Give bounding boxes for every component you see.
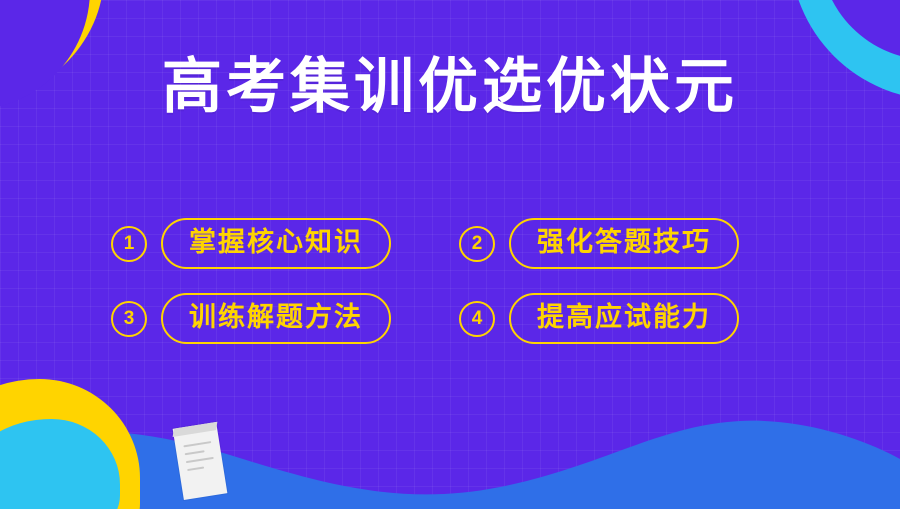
point-number-badge: 3 xyxy=(111,301,147,337)
point-number-badge: 2 xyxy=(459,226,495,262)
point-number-badge: 1 xyxy=(111,226,147,262)
point-label-pill: 训练解题方法 xyxy=(161,293,391,344)
poster-title: 高考集训优选优状元 xyxy=(0,52,900,121)
point-number-badge: 4 xyxy=(459,301,495,337)
point-label-pill: 强化答题技巧 xyxy=(509,218,739,269)
point-item: 2 强化答题技巧 xyxy=(459,218,789,269)
point-item: 3 训练解题方法 xyxy=(111,293,441,344)
poster-content: 高考集训优选优状元 1 掌握核心知识 2 强化答题技巧 3 训练解题方法 4 提… xyxy=(0,0,900,509)
point-label-pill: 掌握核心知识 xyxy=(161,218,391,269)
poster-canvas: 高考集训优选优状元 1 掌握核心知识 2 强化答题技巧 3 训练解题方法 4 提… xyxy=(0,0,900,509)
poster-points-list: 1 掌握核心知识 2 强化答题技巧 3 训练解题方法 4 提高应试能力 xyxy=(0,218,900,344)
point-item: 4 提高应试能力 xyxy=(459,293,789,344)
point-label-pill: 提高应试能力 xyxy=(509,293,739,344)
point-item: 1 掌握核心知识 xyxy=(111,218,441,269)
